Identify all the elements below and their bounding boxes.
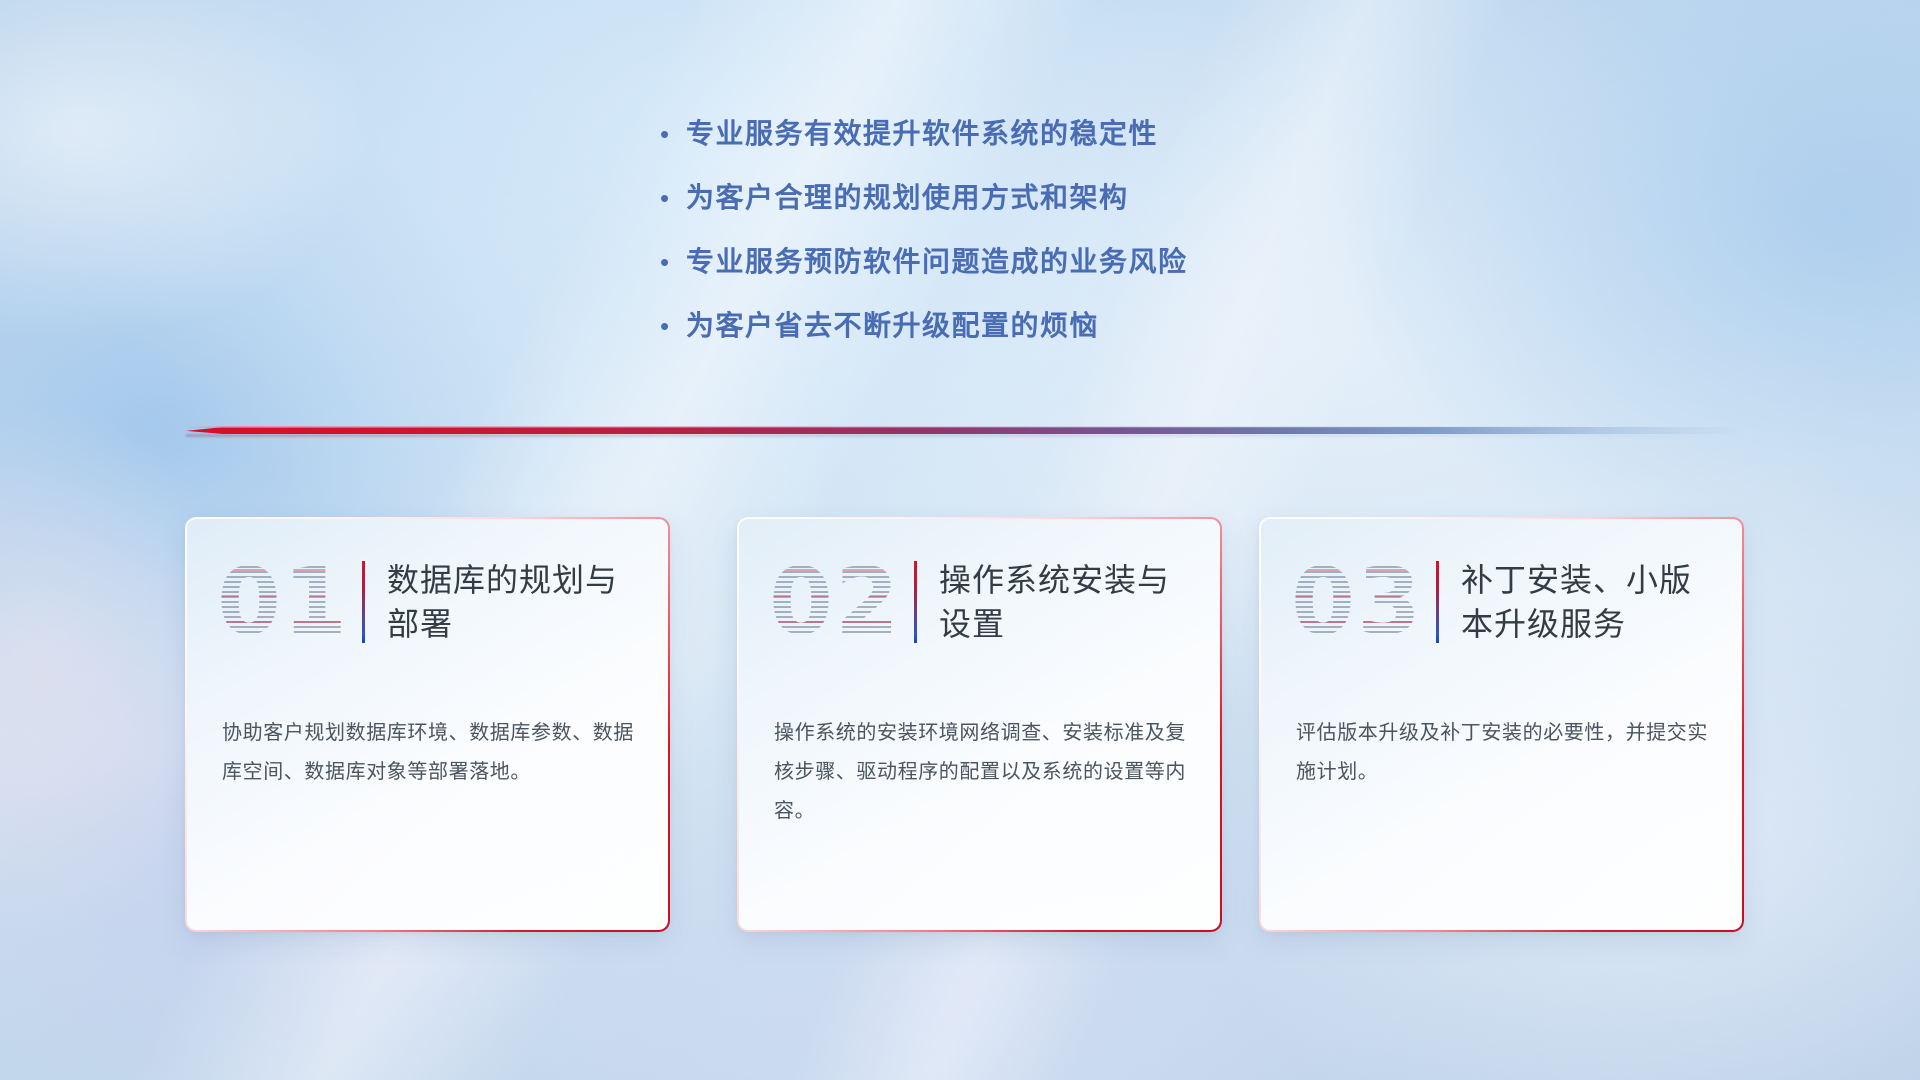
- card-header: 03 03 补丁安装、小版本升级服务: [1260, 536, 1742, 668]
- list-item: • 为客户合理的规划使用方式和架构: [660, 176, 1420, 240]
- bullet-text: 专业服务预防软件问题造成的业务风险: [686, 240, 1188, 280]
- service-card[interactable]: 01 01 数据库的规划与部署 协助客户规划数据库环境、数据库参数、数据库空间、…: [186, 518, 668, 930]
- list-item: • 专业服务预防软件问题造成的业务风险: [660, 240, 1420, 304]
- card-number-badge: 02 02: [760, 543, 910, 661]
- divider-bar: [186, 427, 1742, 434]
- card-header: 01 01 数据库的规划与部署: [186, 536, 668, 668]
- card-number: 02: [769, 556, 901, 648]
- card-number-badge: 01 01: [208, 543, 358, 661]
- card-body-text: 操作系统的安装环境网络调查、安装标准及复核步骤、驱动程序的配置以及系统的设置等内…: [774, 714, 1192, 831]
- card-header: 02 02 操作系统安装与设置: [738, 536, 1220, 668]
- card-title-separator: [914, 561, 917, 643]
- card-body-text: 协助客户规划数据库环境、数据库参数、数据库空间、数据库对象等部署落地。: [222, 714, 640, 792]
- divider-highlight: [186, 426, 1742, 428]
- service-card-group: 01 01 数据库的规划与部署 协助客户规划数据库环境、数据库参数、数据库空间、…: [186, 518, 1742, 930]
- card-title-separator: [362, 561, 365, 643]
- card-title: 补丁安装、小版本升级服务: [1461, 558, 1716, 646]
- bullet-text: 为客户省去不断升级配置的烦恼: [686, 304, 1099, 344]
- section-divider: [186, 422, 1742, 438]
- card-number-badge: 03 03: [1282, 543, 1432, 661]
- bullet-text: 专业服务有效提升软件系统的稳定性: [686, 112, 1158, 152]
- card-body-text: 评估版本升级及补丁安装的必要性，并提交实施计划。: [1296, 714, 1714, 792]
- bullet-marker-icon: •: [660, 121, 686, 147]
- card-title: 操作系统安装与设置: [939, 558, 1194, 646]
- bullet-marker-icon: •: [660, 249, 686, 275]
- divider-shadow: [186, 434, 1742, 437]
- service-card[interactable]: 03 03 补丁安装、小版本升级服务 评估版本升级及补丁安装的必要性，并提交实施…: [1260, 518, 1742, 930]
- card-title-separator: [1436, 561, 1439, 643]
- bullet-marker-icon: •: [660, 313, 686, 339]
- list-item: • 专业服务有效提升软件系统的稳定性: [660, 112, 1420, 176]
- service-card[interactable]: 02 02 操作系统安装与设置 操作系统的安装环境网络调查、安装标准及复核步骤、…: [738, 518, 1220, 930]
- list-item: • 为客户省去不断升级配置的烦恼: [660, 304, 1420, 368]
- card-number: 03: [1291, 556, 1423, 648]
- card-number: 01: [217, 556, 349, 648]
- bullet-marker-icon: •: [660, 185, 686, 211]
- benefits-bullet-list: • 专业服务有效提升软件系统的稳定性 • 为客户合理的规划使用方式和架构 • 专…: [660, 112, 1420, 368]
- bullet-text: 为客户合理的规划使用方式和架构: [686, 176, 1129, 216]
- card-title: 数据库的规划与部署: [387, 558, 642, 646]
